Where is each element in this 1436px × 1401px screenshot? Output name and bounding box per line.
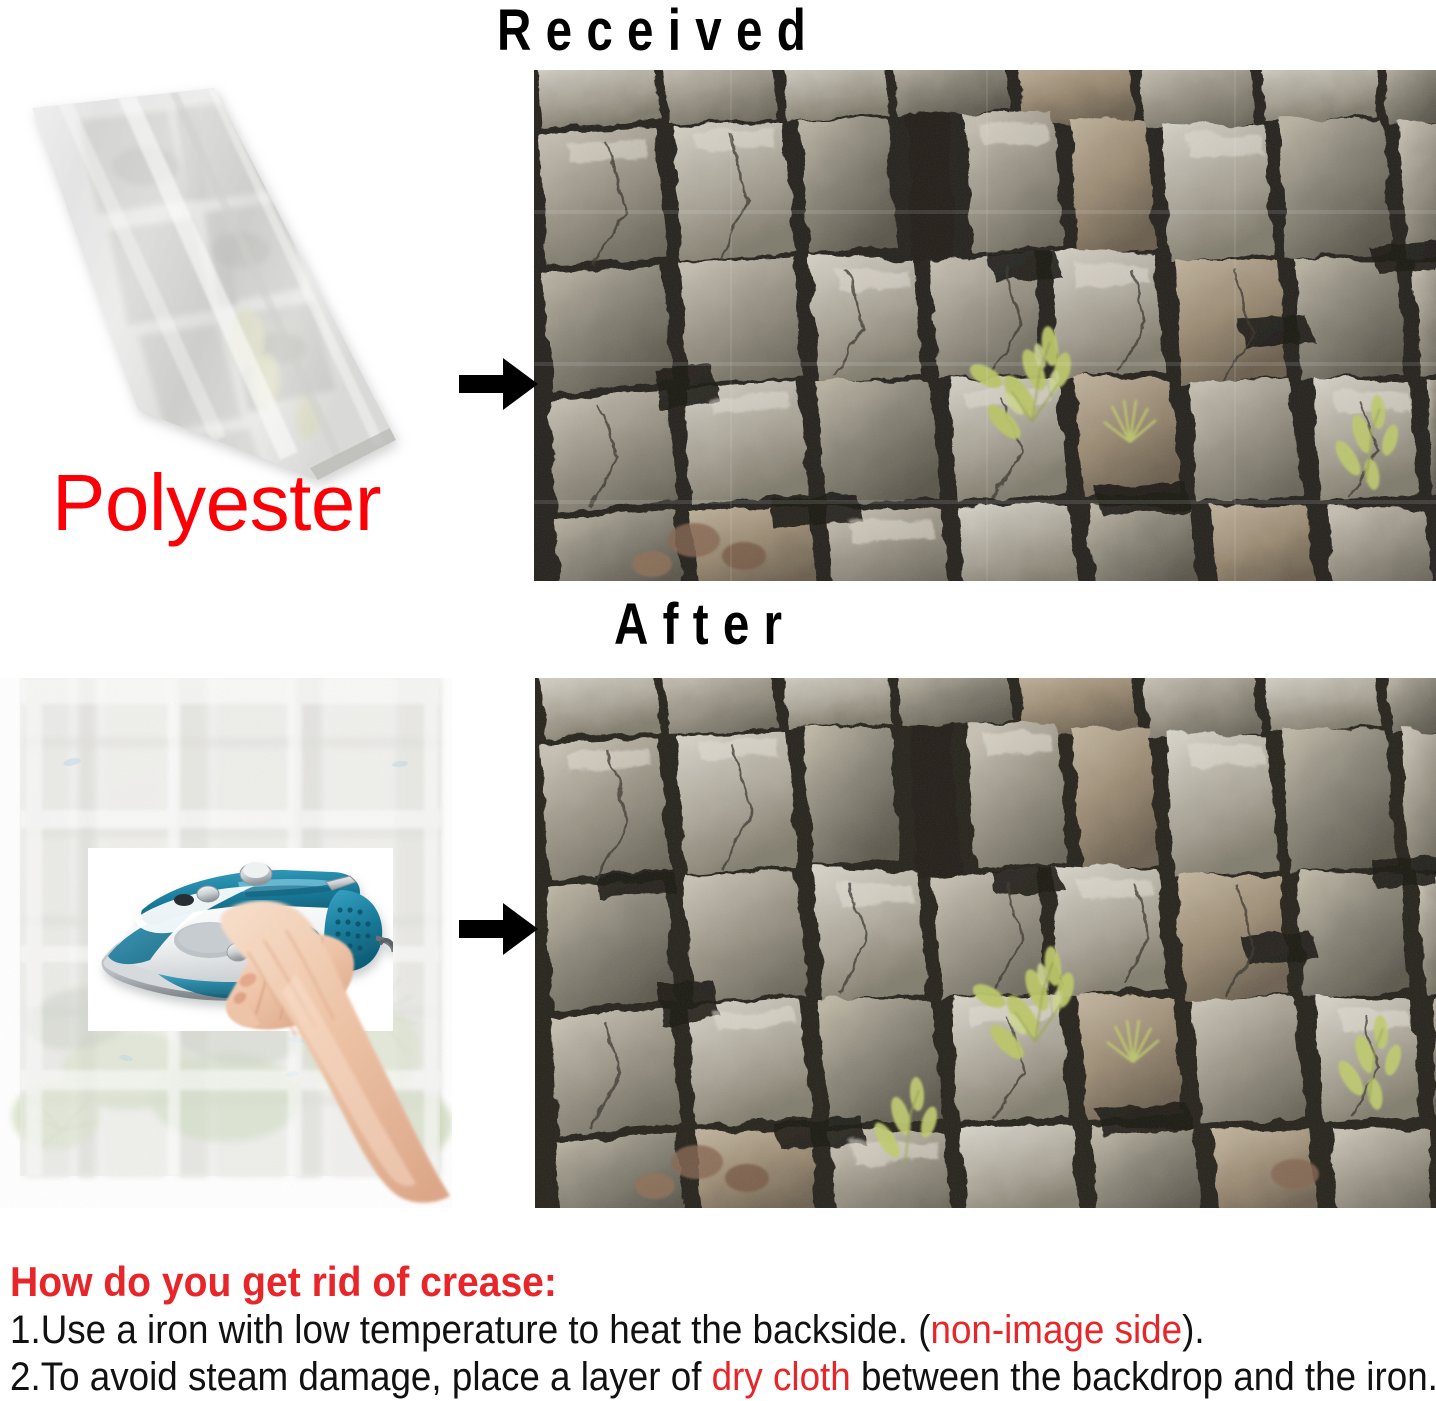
polyester-label: Polyester (52, 463, 381, 543)
folded-polyester-fabric-image (18, 80, 448, 490)
instruction-2-part-c: between the backdrop and the iron. (851, 1355, 1436, 1399)
right-arrow-icon-bottom (459, 900, 539, 958)
page-title-after: After (614, 596, 796, 654)
instruction-1-highlight: non-image side (930, 1308, 1182, 1352)
instruction-1-part-a: 1.Use a iron with low temperature to hea… (10, 1308, 930, 1352)
instruction-2-highlight: dry cloth (712, 1355, 851, 1399)
instructions-heading: How do you get rid of crease: (10, 1258, 1336, 1306)
right-arrow-icon (459, 355, 539, 413)
instructions-block: How do you get rid of crease: 1.Use a ir… (10, 1258, 1436, 1400)
instruction-line-1: 1.Use a iron with low temperature to hea… (10, 1308, 1322, 1353)
after-backdrop-photo (535, 678, 1436, 1208)
page-title-received: Received (497, 2, 820, 60)
received-backdrop-photo (534, 70, 1436, 581)
instruction-2-part-a: 2.To avoid steam damage, place a layer o… (10, 1355, 712, 1399)
instruction-1-part-c: ). (1182, 1308, 1204, 1352)
instruction-line-2: 2.To avoid steam damage, place a layer o… (10, 1355, 1322, 1400)
iron-photo-inset (88, 848, 393, 1031)
